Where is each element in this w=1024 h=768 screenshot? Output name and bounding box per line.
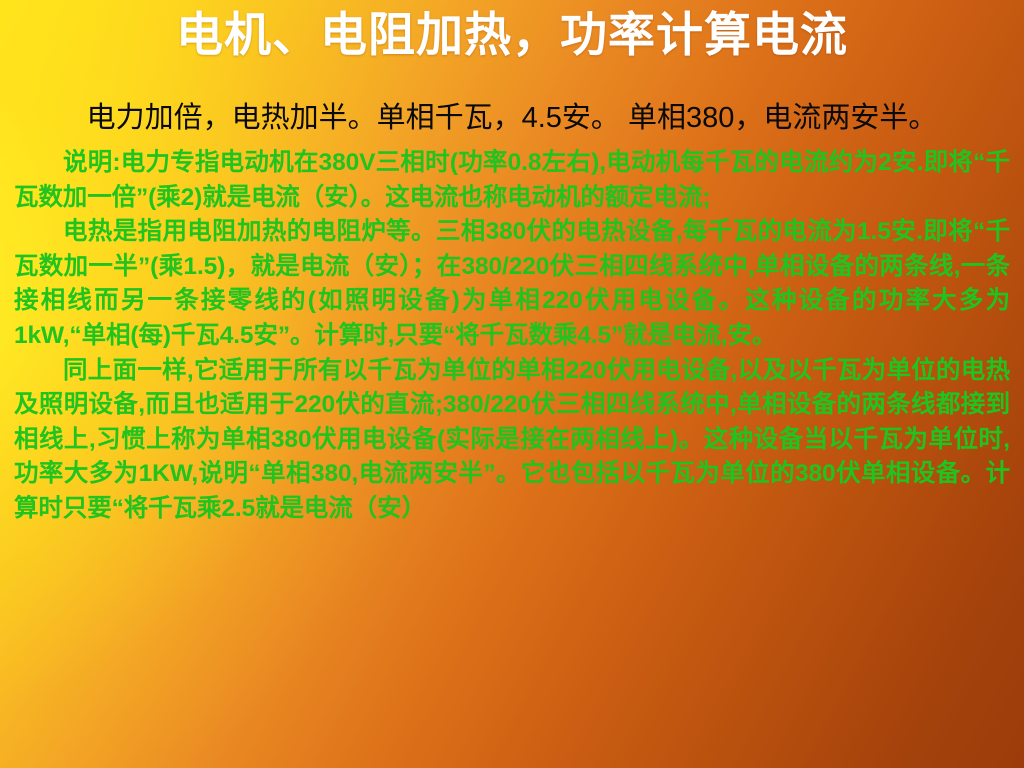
- picture-strip: [0, 600, 1024, 768]
- body-paragraph-1: 说明:电力专指电动机在380V三相时(功率0.8左右),电动机每千瓦的电流约为2…: [14, 146, 1010, 215]
- slide-title: 电机、电阻加热，功率计算电流: [0, 4, 1024, 66]
- body-paragraph-3: 同上面一样,它适用于所有以千瓦为单位的单相220伏用电设备,以及以千瓦为单位的电…: [14, 354, 1010, 527]
- body-paragraph-2: 电热是指用电阻加热的电阻炉等。三相380伏的电热设备,每千瓦的电流为1.5安.即…: [14, 215, 1010, 353]
- slide-subtitle: 电力加倍，电热加半。单相千瓦，4.5安。 单相380，电流两安半。: [0, 98, 1024, 138]
- presentation-slide: 电机、电阻加热，功率计算电流 电力加倍，电热加半。单相千瓦，4.5安。 单相38…: [0, 0, 1024, 768]
- slide-body-text: 说明:电力专指电动机在380V三相时(功率0.8左右),电动机每千瓦的电流约为2…: [14, 146, 1010, 527]
